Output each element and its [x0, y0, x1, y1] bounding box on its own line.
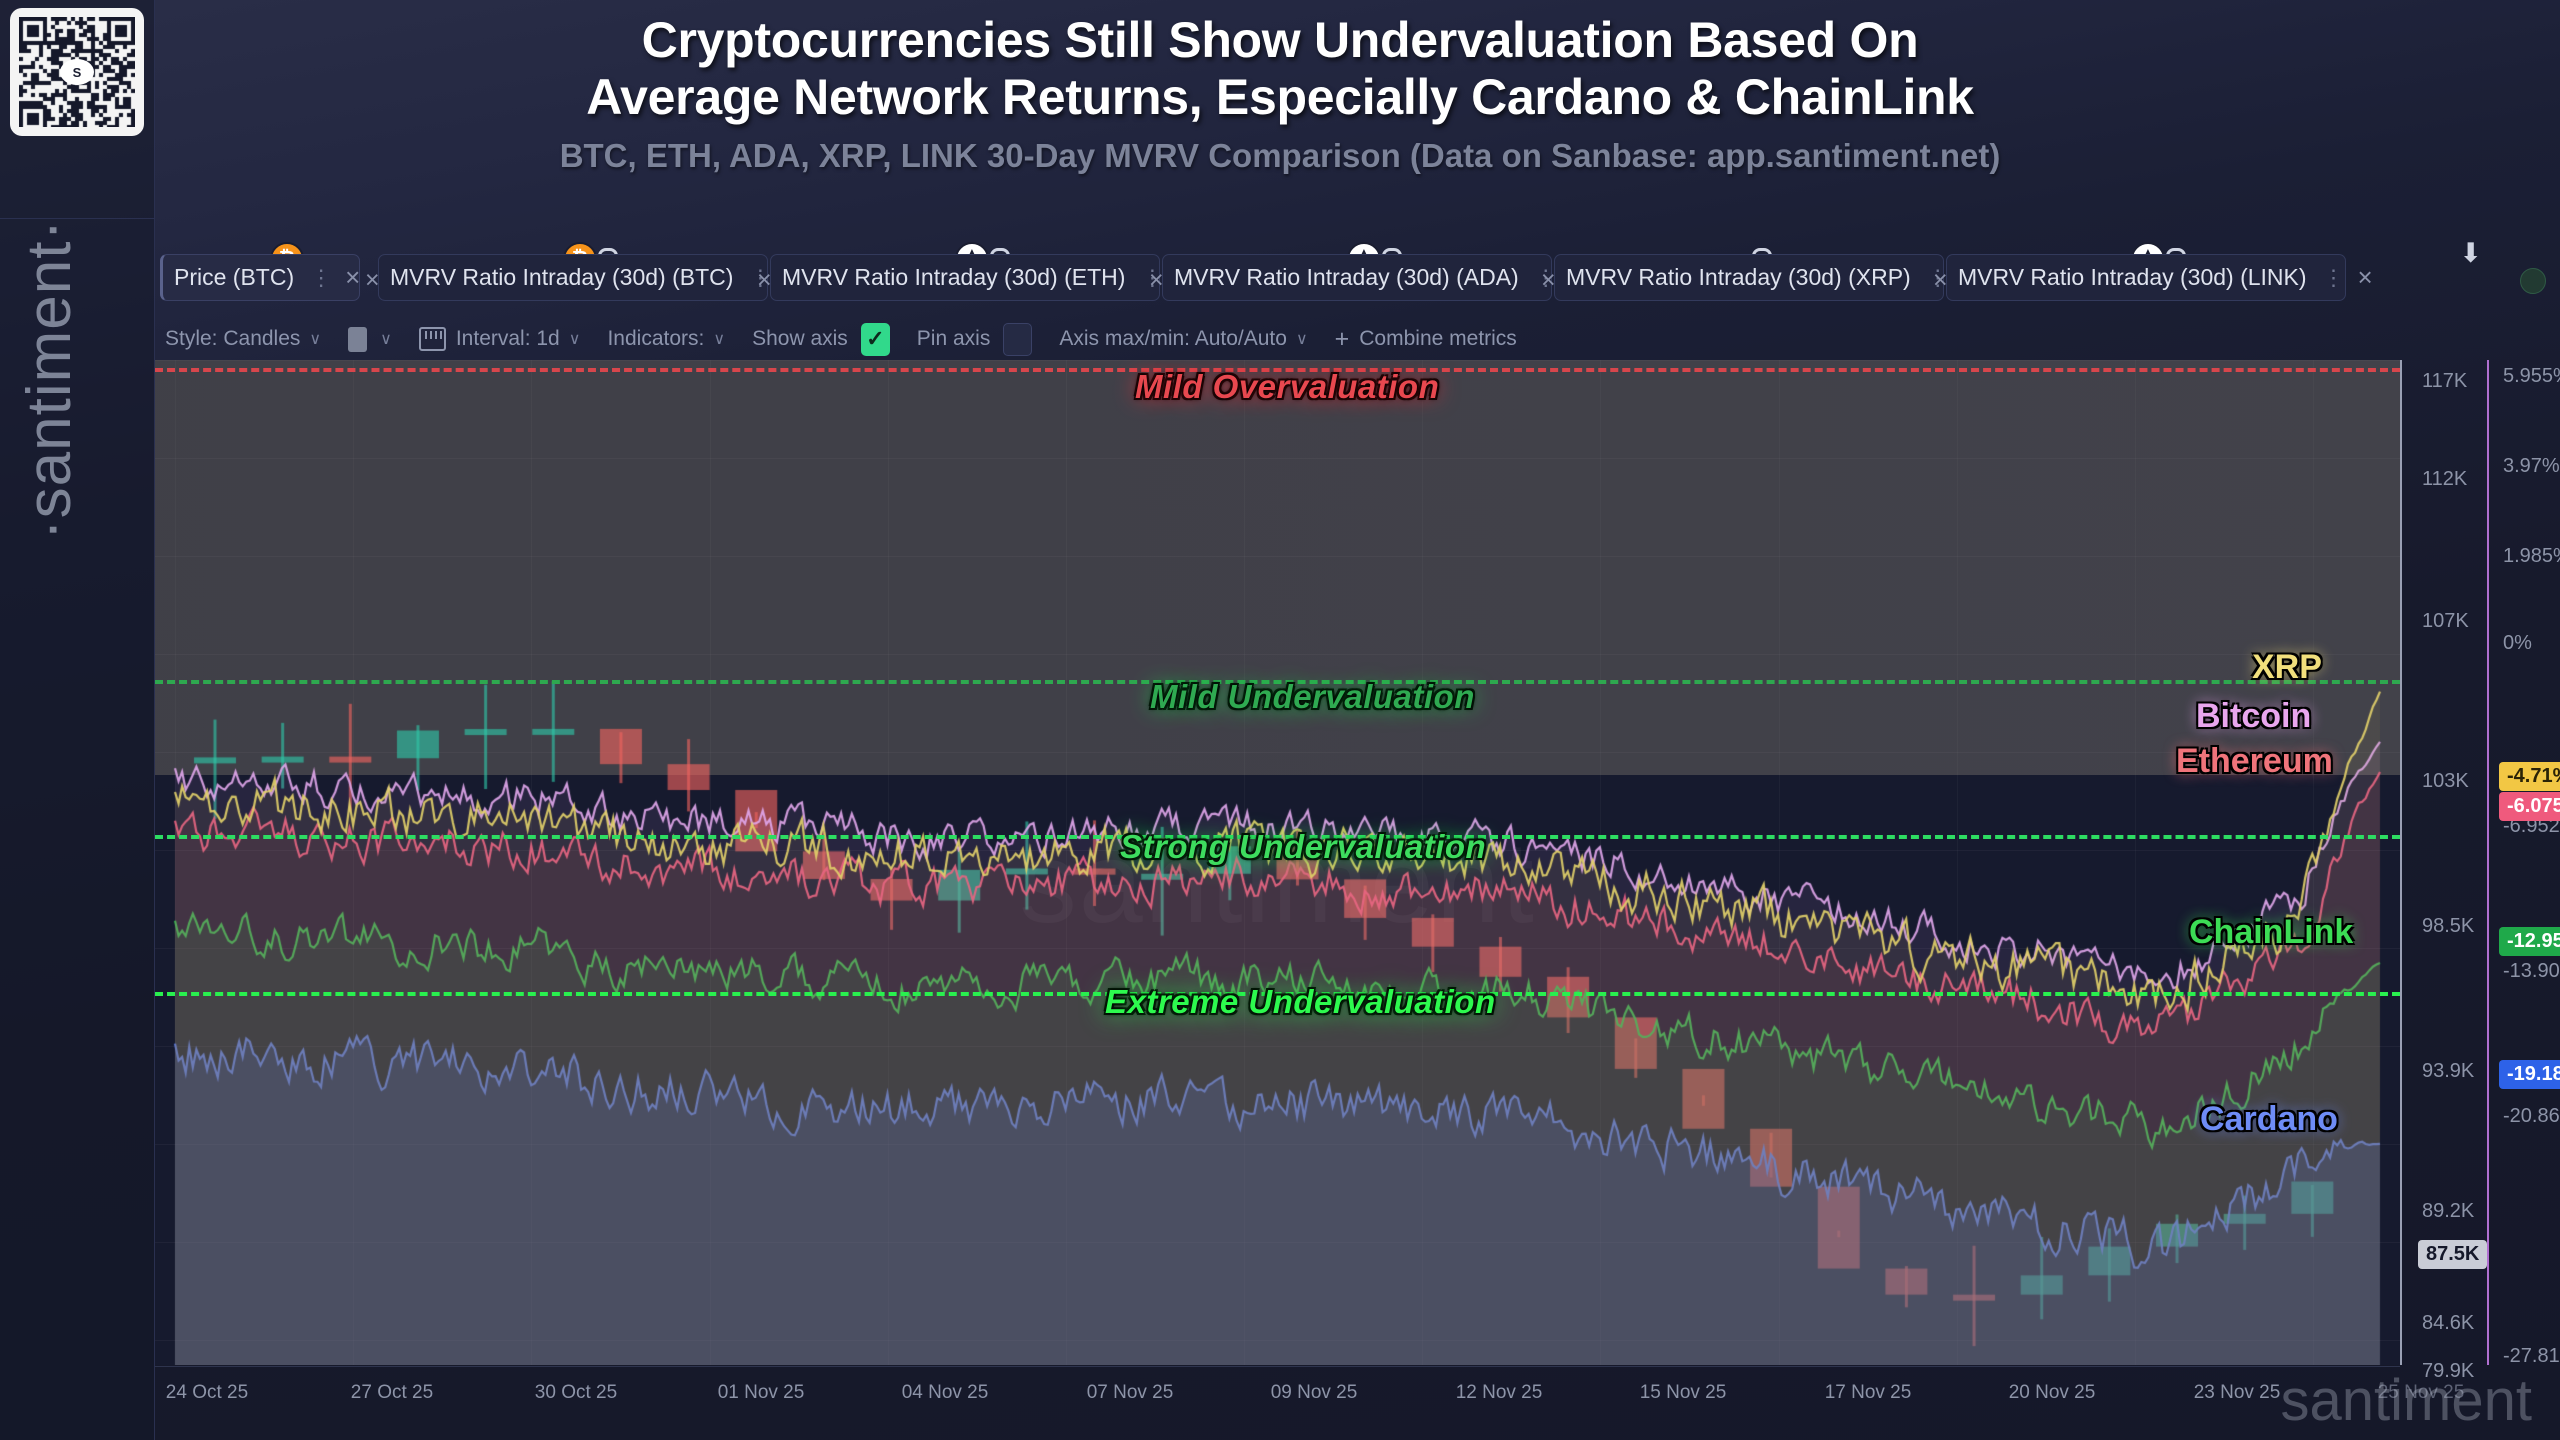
- style-select[interactable]: Style: Candles ∨: [165, 327, 321, 351]
- price-tick: 98.5K: [2422, 915, 2474, 938]
- metric-close-icon[interactable]: ×: [345, 262, 360, 293]
- status-dot-icon[interactable]: [2520, 268, 2546, 294]
- metric-close-icon[interactable]: ×: [2358, 262, 2373, 293]
- annotation-red: Mild Overvaluation: [1135, 368, 1439, 406]
- price-tick: 89.2K: [2422, 1200, 2474, 1223]
- metric-tab-label: MVRV Ratio Intraday (30d) (ETH): [782, 264, 1125, 291]
- date-axis: 24 Oct 2527 Oct 2530 Oct 2501 Nov 2504 N…: [155, 1370, 2400, 1410]
- percent-axis[interactable]: 5.955%3.97%1.985%0%-6.952%-13.90%-20.86%…: [2487, 360, 2560, 1365]
- app-root: Cryptocurrencies Still Show Undervaluati…: [0, 0, 2560, 1440]
- interval-select[interactable]: Interval: 1d ∨: [419, 327, 581, 351]
- x-axis-line: [155, 1366, 2400, 1367]
- price-tick: 93.9K: [2422, 1060, 2474, 1083]
- metric-close-icon-outer-4[interactable]: ×: [1933, 266, 1948, 295]
- date-tick: 01 Nov 25: [718, 1382, 805, 1404]
- interval-label: Interval: 1d: [456, 327, 560, 351]
- price-tick: 112K: [2422, 468, 2467, 491]
- indicators-select[interactable]: Indicators: ∨: [607, 327, 725, 351]
- date-tick: 04 Nov 25: [902, 1382, 989, 1404]
- percent-tick: -20.86%: [2503, 1105, 2560, 1128]
- show-axis-label: Show axis: [752, 327, 848, 351]
- percent-badge-chainlink: -12.95%: [2499, 927, 2560, 956]
- metric-tab-label: Price (BTC): [174, 264, 294, 291]
- metric-menu-icon[interactable]: ⋮: [2323, 271, 2345, 284]
- percent-badge-ethereum: -6.075%: [2499, 792, 2560, 821]
- metric-tab-0[interactable]: Price (BTC)⋮×: [160, 254, 360, 301]
- chevron-down-icon: ∨: [309, 329, 321, 349]
- series-label-chainlink: ChainLink: [2189, 913, 2353, 952]
- title-line-2: Average Network Returns, Especially Card…: [0, 69, 2560, 126]
- page-subtitle: BTC, ETH, ADA, XRP, LINK 30-Day MVRV Com…: [0, 137, 2560, 175]
- show-axis-toggle[interactable]: Show axis ✓: [752, 323, 890, 356]
- date-tick: 07 Nov 25: [1087, 1382, 1174, 1404]
- date-tick: 17 Nov 25: [1825, 1382, 1912, 1404]
- series-label-ethereum: Ethereum: [2176, 742, 2333, 781]
- series-label-bitcoin: Bitcoin: [2196, 697, 2311, 736]
- metric-close-icon-outer-1[interactable]: ×: [757, 266, 772, 295]
- annotation-g2: Strong Undervaluation: [1120, 828, 1486, 866]
- chart-options-toolbar: Style: Candles ∨ ∨ Interval: 1d ∨ Indica…: [165, 322, 1544, 356]
- percent-tick: 0%: [2503, 632, 2532, 655]
- date-tick: 09 Nov 25: [1271, 1382, 1358, 1404]
- chart-header: Cryptocurrencies Still Show Undervaluati…: [0, 0, 2560, 218]
- date-tick: 27 Oct 25: [351, 1382, 433, 1404]
- metric-tab-1[interactable]: MVRV Ratio Intraday (30d) (BTC)⋮×: [378, 254, 768, 301]
- axis-minmax-label: Axis max/min: Auto/Auto: [1059, 327, 1287, 351]
- series-label-cardano: Cardano: [2200, 1100, 2338, 1139]
- indicators-label: Indicators:: [607, 327, 704, 351]
- chevron-down-icon: ∨: [380, 329, 392, 349]
- date-tick: 24 Oct 25: [166, 1382, 248, 1404]
- metric-tab-label: MVRV Ratio Intraday (30d) (BTC): [390, 264, 733, 291]
- axis-minmax-select[interactable]: Axis max/min: Auto/Auto ∨: [1059, 327, 1307, 351]
- combine-metrics-button[interactable]: + Combine metrics: [1335, 325, 1517, 354]
- metric-tab-5[interactable]: MVRV Ratio Intraday (30d) (LINK)⋮×: [1946, 254, 2346, 301]
- metric-close-icon-outer-0[interactable]: ×: [365, 266, 380, 295]
- percent-tick: -13.90%: [2503, 960, 2560, 983]
- percent-tick: 1.985%: [2503, 545, 2560, 568]
- metric-close-icon-outer-3[interactable]: ×: [1541, 266, 1556, 295]
- metric-tab-label: MVRV Ratio Intraday (30d) (XRP): [1566, 264, 1911, 291]
- price-last-badge: 87.5K: [2418, 1240, 2487, 1269]
- qr-code[interactable]: S: [10, 8, 144, 136]
- metric-tab-3[interactable]: MVRV Ratio Intraday (30d) (ADA)⋮×: [1162, 254, 1552, 301]
- series-label-xrp: XRP: [2252, 648, 2322, 687]
- date-tick: 15 Nov 25: [1640, 1382, 1727, 1404]
- percent-tick: 5.955%: [2503, 365, 2560, 388]
- chevron-down-icon: ∨: [569, 329, 581, 349]
- percent-badge-cardano: -19.18%: [2499, 1060, 2560, 1089]
- price-axis-line: [2400, 360, 2402, 1365]
- date-tick: 23 Nov 25: [2194, 1382, 2281, 1404]
- metric-tab-label: MVRV Ratio Intraday (30d) (ADA): [1174, 264, 1519, 291]
- date-tick: 12 Nov 25: [1456, 1382, 1543, 1404]
- price-tick: 107K: [2422, 610, 2469, 633]
- combine-metrics-label: Combine metrics: [1359, 327, 1517, 351]
- percent-tick: 3.97%: [2503, 455, 2560, 478]
- metric-tab-4[interactable]: MVRV Ratio Intraday (30d) (XRP)⋮×: [1554, 254, 1944, 301]
- pin-axis-label: Pin axis: [917, 327, 991, 351]
- chevron-down-icon: ∨: [713, 329, 725, 349]
- price-tick: 117K: [2422, 370, 2467, 393]
- metric-menu-icon[interactable]: ⋮: [310, 271, 332, 284]
- plus-icon: +: [1335, 325, 1350, 354]
- metric-tab-bar: ₿Price (BTC)⋮×₿MVRV Ratio Intraday (30d)…: [160, 248, 2560, 306]
- style-label: Style: Candles: [165, 327, 300, 351]
- pin-axis-toggle[interactable]: Pin axis: [917, 323, 1033, 356]
- annotation-g3: Extreme Undervaluation: [1105, 983, 1496, 1021]
- price-tick: 103K: [2422, 770, 2469, 793]
- price-tick: 84.6K: [2422, 1312, 2474, 1335]
- price-axis[interactable]: 117K112K107K103K98.5K93.9K89.2K84.6K79.9…: [2400, 360, 2475, 1365]
- date-tick: 30 Oct 25: [535, 1382, 617, 1404]
- checkbox-checked-icon[interactable]: ✓: [861, 323, 890, 356]
- chart-plot-area[interactable]: santiment Mild OvervaluationMild Underva…: [155, 360, 2400, 1365]
- download-icon[interactable]: ⬇: [2459, 238, 2482, 269]
- qr-logo: S: [60, 59, 94, 85]
- date-tick: 20 Nov 25: [2009, 1382, 2096, 1404]
- candle-color-select[interactable]: ∨: [348, 327, 392, 352]
- candle-swatch-icon: [348, 327, 367, 352]
- metric-close-icon-outer-2[interactable]: ×: [1149, 266, 1164, 295]
- metric-tab-2[interactable]: MVRV Ratio Intraday (30d) (ETH)⋮×: [770, 254, 1160, 301]
- metric-tab-label: MVRV Ratio Intraday (30d) (LINK): [1958, 264, 2307, 291]
- title-line-1: Cryptocurrencies Still Show Undervaluati…: [642, 12, 1919, 68]
- chevron-down-icon: ∨: [1296, 329, 1308, 349]
- page-title: Cryptocurrencies Still Show Undervaluati…: [0, 0, 2560, 126]
- percent-badge-xrp: -4.71%: [2499, 762, 2560, 791]
- qr-grid: S: [19, 17, 135, 127]
- percent-axis-line: [2487, 360, 2489, 1365]
- santiment-watermark-bottom: santiment: [2281, 1367, 2532, 1434]
- annotation-g1: Mild Undervaluation: [1150, 678, 1475, 716]
- checkbox-unchecked-icon[interactable]: [1003, 323, 1032, 356]
- percent-tick: -27.81%: [2503, 1345, 2560, 1368]
- interval-icon: [419, 327, 446, 351]
